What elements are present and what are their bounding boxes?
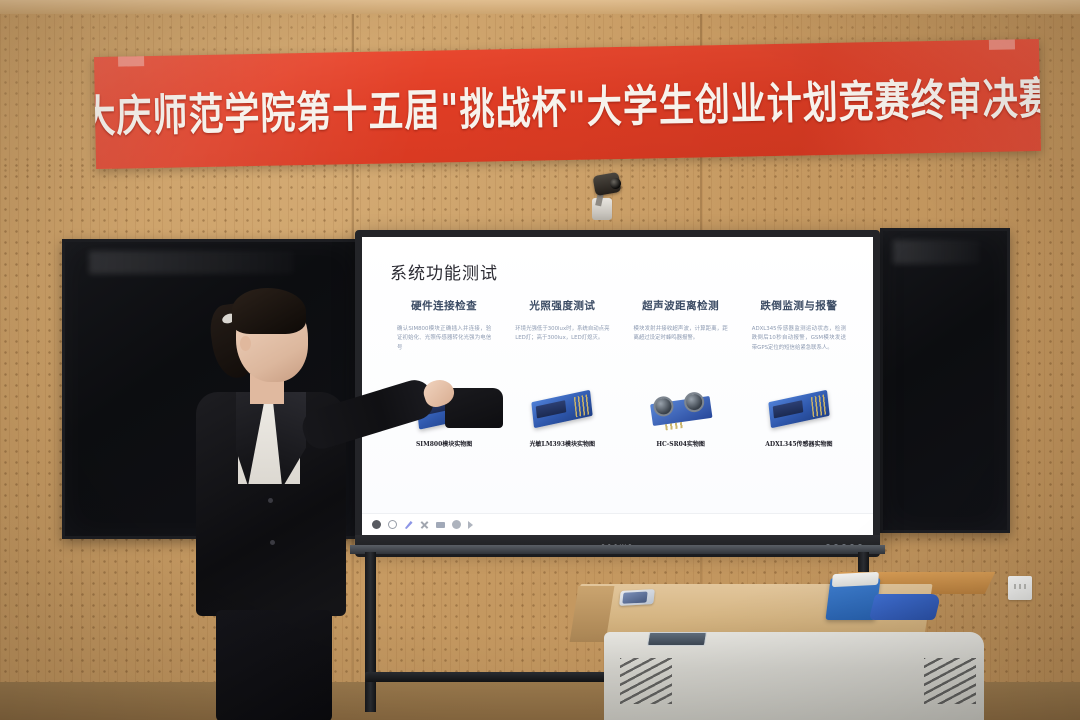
- column-figure-2: [508, 381, 616, 437]
- sonar-pin-header: [665, 422, 684, 430]
- banner-title: 大庆师范学院第十五届"挑战杯"大学生创业计划竞赛终审决赛: [94, 63, 1041, 145]
- slide-column-3: 超声波距离检测 模块发射并接收超声波，计算距离，距离超过设定时蜂鸣器报警。 HC…: [627, 298, 735, 448]
- column-figure-4: [745, 381, 853, 437]
- blackboard-glare-left: [89, 251, 295, 275]
- event-banner: 大庆师范学院第十五届"挑战杯"大学生创业计划竞赛终审决赛: [94, 39, 1041, 169]
- hc-sr04-module-icon: [649, 390, 713, 428]
- slide-column-2: 光照强度测试 环境光强低于300lux时，系统自动点亮LED灯；高于300lux…: [508, 298, 616, 448]
- column-heading-2: 光照强度测试: [508, 298, 616, 313]
- column-heading-3: 超声波距离检测: [627, 298, 735, 313]
- blackboard-glare-right: [893, 240, 980, 264]
- presenter-hair: [232, 288, 306, 334]
- banner-tape-right: [989, 39, 1015, 50]
- slide-columns: 硬件连接检查 确认SIM800模块正确插入并连接，验证初始化、光照传感器转化光强…: [390, 298, 853, 448]
- column-body-2: 环境光强低于300lux时，系统自动点亮LED灯；高于300lux，LED灯熄灭…: [508, 325, 616, 379]
- presenter-arm-pointing: [298, 376, 438, 453]
- blazer-button-2: [270, 540, 275, 545]
- presenter-trousers: [216, 610, 332, 720]
- settings-gear-icon[interactable]: [452, 520, 461, 529]
- column-body-3: 模块发射并接收超声波，计算距离，距离超过设定时蜂鸣器报警。: [627, 325, 735, 379]
- column-caption-3: HC-SR04实物图: [627, 439, 735, 448]
- column-caption-2: 光敏LM393模块实物图: [508, 439, 616, 448]
- column-heading-4: 跌倒监测与报警: [745, 298, 853, 313]
- adxl345-module-icon: [768, 390, 829, 428]
- presenter-ear: [240, 336, 251, 351]
- slide-column-4: 跌倒监测与报警 ADXL345传感器监测运动状态，检测跌倒后10秒自动报警，GS…: [745, 298, 853, 448]
- presenter: [178, 288, 448, 720]
- mobile-phone[interactable]: [619, 589, 655, 606]
- slide-title: 系统功能测试: [390, 259, 853, 284]
- security-camera-icon: [580, 172, 624, 224]
- column-figure-3: [627, 381, 735, 437]
- wall-power-socket[interactable]: [1008, 576, 1032, 600]
- camera-lens-icon: [610, 178, 621, 189]
- lectern-control-panel[interactable]: [647, 632, 707, 646]
- lectern: [576, 572, 988, 720]
- next-caret-icon[interactable]: [468, 521, 473, 529]
- column-body-4: ADXL345传感器监测运动状态，检测跌倒后10秒自动报警，GSM模块发送带GP…: [745, 325, 853, 379]
- blue-cloth: [869, 594, 941, 620]
- lm393-module-icon: [532, 390, 593, 428]
- lectern-vent-left: [620, 658, 672, 704]
- ceiling-strip: [0, 0, 1080, 14]
- lectern-vent-right: [924, 658, 976, 704]
- blazer-button-1: [268, 498, 273, 503]
- column-caption-4: ADXL345传感器实物图: [745, 439, 853, 448]
- blackboard-right: [880, 228, 1010, 533]
- classroom-scene: 大庆师范学院第十五届"挑战杯"大学生创业计划竞赛终审决赛 系统功能测试 硬件连接…: [0, 0, 1080, 720]
